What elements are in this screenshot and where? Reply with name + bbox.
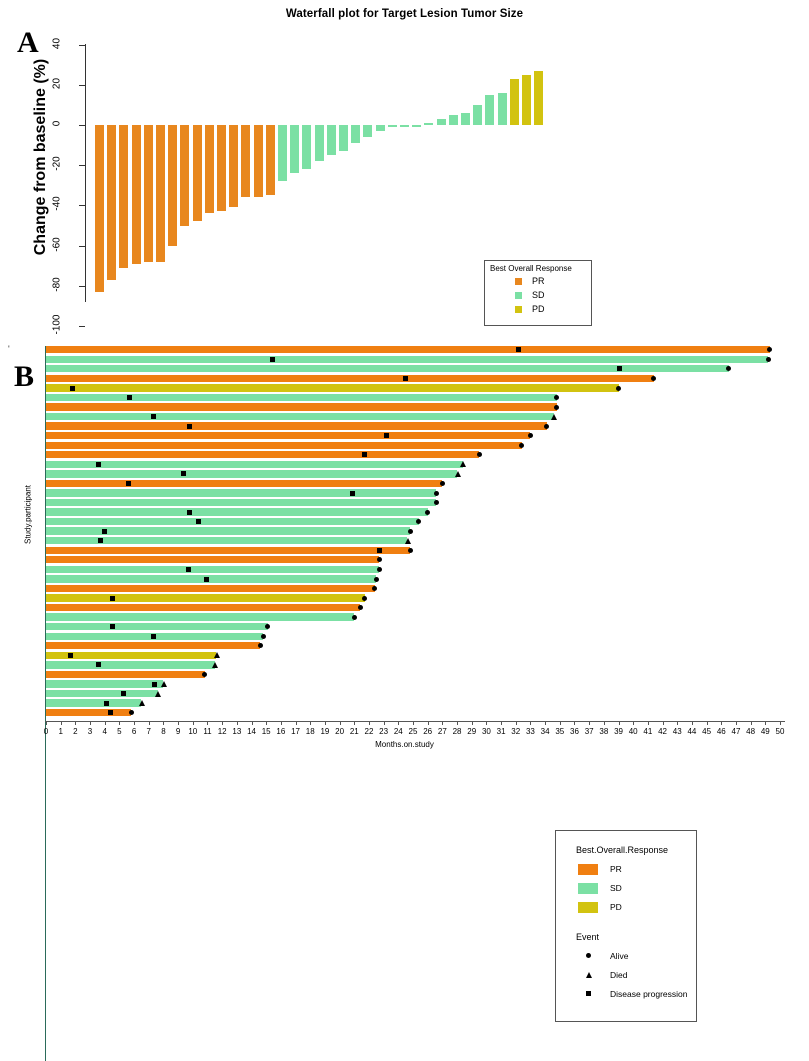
chart-b-lane-bar — [46, 422, 547, 429]
chart-b-lane-bar — [46, 547, 410, 554]
chart-b-lane-bar — [46, 671, 205, 678]
chart-a-bar — [485, 95, 494, 125]
chart-a-y-axis-line — [85, 44, 86, 302]
chart-b-event-marker-alive — [261, 634, 266, 639]
chart-b-event-marker-prog — [377, 548, 382, 553]
chart-a-bar — [363, 125, 372, 137]
chart-a-tick-label: 0 — [52, 107, 63, 141]
chart-b-tick — [354, 721, 355, 725]
chart-b-event-marker-prog — [187, 424, 192, 429]
chart-b-tick — [560, 721, 561, 725]
chart-a-tick — [79, 125, 85, 126]
chart-b-tick — [193, 721, 194, 725]
chart-a-legend-label: PR — [532, 276, 545, 286]
chart-b-event-marker-alive — [425, 510, 430, 515]
panel-a-waterfall-plot: Waterfall plot for Target Lesion Tumor S… — [0, 0, 809, 340]
chart-a-tick — [79, 246, 85, 247]
chart-a-bar — [473, 105, 482, 125]
chart-b-event-marker-alive — [129, 710, 134, 715]
chart-b-event-marker-prog — [270, 357, 275, 362]
chart-b-tick — [736, 721, 737, 725]
chart-b-lane-bar — [46, 365, 729, 372]
chart-b-event-marker-alive — [372, 586, 377, 591]
chart-b-event-marker-alive — [265, 624, 270, 629]
chart-b-tick — [325, 721, 326, 725]
chart-b-tick-label: 50 — [771, 727, 789, 736]
chart-a-bar — [498, 93, 507, 125]
chart-a-bar — [449, 115, 458, 125]
chart-b-legend-response-title: Best.Overall.Response — [576, 845, 668, 855]
chart-a-bar — [424, 123, 433, 125]
chart-b-event-marker-prog — [403, 376, 408, 381]
chart-b-event-marker-alive — [358, 605, 363, 610]
chart-b-event-marker-prog — [187, 510, 192, 515]
chart-b-legend-event-label: Alive — [610, 951, 628, 961]
chart-b-lane-bar — [46, 527, 410, 534]
chart-a-title: Waterfall plot for Target Lesion Tumor S… — [0, 8, 809, 20]
chart-b-event-marker-alive — [767, 347, 772, 352]
chart-a-plot-area — [90, 44, 790, 306]
chart-b-tick — [75, 721, 76, 725]
chart-b-event-marker-prog — [186, 567, 191, 572]
chart-a-bar — [339, 125, 348, 151]
chart-b-tick — [119, 721, 120, 725]
chart-b-tick — [207, 721, 208, 725]
chart-a-bar — [180, 125, 189, 226]
chart-b-event-marker-prog — [151, 414, 156, 419]
chart-b-event-marker-prog — [350, 491, 355, 496]
chart-b-tick — [619, 721, 620, 725]
panel-b-label: B — [14, 362, 34, 392]
chart-a-bar — [95, 125, 104, 292]
chart-b-legend-label: PD — [610, 902, 622, 912]
chart-b-tick — [751, 721, 752, 725]
chart-b-legend-swatch — [578, 883, 598, 894]
chart-b-event-marker-alive — [374, 577, 379, 582]
chart-b-lane-bar — [46, 604, 360, 611]
chart-a-legend: Best Overall Response PRSDPD — [484, 260, 592, 326]
chart-b-event-marker-alive — [440, 481, 445, 486]
chart-b-lane-bar — [46, 489, 436, 496]
chart-b-event-marker-died — [455, 471, 461, 477]
chart-b-tick — [486, 721, 487, 725]
chart-a-bar — [144, 125, 153, 262]
chart-b-event-marker-alive — [726, 366, 731, 371]
chart-a-bar — [510, 79, 519, 125]
chart-b-event-marker-prog — [110, 596, 115, 601]
chart-b-lane-bar — [46, 556, 379, 563]
chart-b-event-marker-died — [161, 681, 167, 687]
chart-a-tick — [79, 326, 85, 327]
chart-a-bar — [168, 125, 177, 246]
chart-b-tick — [222, 721, 223, 725]
chart-b-lane-bar — [46, 518, 419, 525]
chart-b-lane-bar — [46, 394, 557, 401]
chart-b-tick — [149, 721, 150, 725]
chart-a-bar — [278, 125, 287, 181]
panel-b-swimmer-plot: ' B Study.participant 012345678910111213… — [0, 340, 809, 759]
chart-a-bar — [229, 125, 238, 207]
chart-b-tick — [296, 721, 297, 725]
chart-b-event-marker-alive — [544, 424, 549, 429]
chart-b-tick — [589, 721, 590, 725]
chart-b-tick — [384, 721, 385, 725]
chart-b-event-marker-alive — [528, 433, 533, 438]
chart-a-tick-label: -100 — [52, 308, 63, 342]
chart-b-tick — [677, 721, 678, 725]
chart-b-event-marker-alive — [651, 376, 656, 381]
chart-b-event-marker-died — [551, 414, 557, 420]
chart-b-tick — [413, 721, 414, 725]
chart-b-lane-bar — [46, 442, 522, 449]
chart-a-tick-label: -20 — [52, 147, 63, 181]
chart-b-tick — [252, 721, 253, 725]
chart-b-event-marker-alive — [477, 452, 482, 457]
chart-a-bar — [302, 125, 311, 169]
chart-b-tick — [310, 721, 311, 725]
chart-b-lane-bar — [46, 413, 554, 420]
chart-b-lane-bar — [46, 709, 131, 716]
chart-a-bar — [327, 125, 336, 155]
chart-b-tick — [648, 721, 649, 725]
chart-b-event-marker-prog — [126, 481, 131, 486]
chart-b-event-marker-alive — [766, 357, 771, 362]
chart-b-tick — [442, 721, 443, 725]
chart-b-event-marker-alive — [408, 548, 413, 553]
chart-b-tick — [266, 721, 267, 725]
chart-b-x-axis-label: Months.on.study — [0, 740, 809, 749]
chart-b-lane-bar — [46, 594, 365, 601]
chart-b-event-marker-prog — [617, 366, 622, 371]
chart-a-tick — [79, 205, 85, 206]
chart-a-bar — [437, 119, 446, 125]
panel-b-corner-mark: ' — [8, 344, 10, 354]
chart-b-tick — [663, 721, 664, 725]
chart-a-bar — [376, 125, 385, 131]
chart-a-bar — [107, 125, 116, 280]
chart-a-tick-label: 40 — [52, 26, 63, 60]
chart-b-event-marker-prog — [196, 519, 201, 524]
chart-b-event-marker-prog — [516, 347, 521, 352]
chart-a-bar — [156, 125, 165, 262]
chart-b-event-marker-alive — [554, 395, 559, 400]
chart-b-tick — [237, 721, 238, 725]
chart-b-event-marker-prog — [110, 624, 115, 629]
chart-a-bar — [132, 125, 141, 264]
chart-b-event-marker-prog — [68, 653, 73, 658]
chart-b-tick — [61, 721, 62, 725]
chart-b-event-marker-prog — [384, 433, 389, 438]
chart-b-event-marker-prog — [102, 529, 107, 534]
chart-b-tick — [178, 721, 179, 725]
chart-b-tick — [604, 721, 605, 725]
chart-b-legend-label: PR — [610, 864, 622, 874]
chart-b-lane-bar — [46, 461, 463, 468]
chart-b-tick — [633, 721, 634, 725]
chart-b-tick — [457, 721, 458, 725]
chart-b-tick — [90, 721, 91, 725]
chart-b-lane-bar — [46, 661, 215, 668]
chart-b-tick — [46, 721, 47, 725]
chart-b-event-marker-alive — [408, 529, 413, 534]
chart-b-legend-swatch — [578, 864, 598, 875]
chart-b-event-marker-prog — [108, 710, 113, 715]
chart-b-lane-bar — [46, 642, 260, 649]
chart-b-legend-swatch — [578, 902, 598, 913]
chart-b-lane-bar — [46, 699, 141, 706]
chart-a-legend-label: PD — [532, 304, 545, 314]
chart-b-tick — [501, 721, 502, 725]
chart-b-tick — [340, 721, 341, 725]
chart-b-lane-bar — [46, 480, 442, 487]
chart-b-lane-bar — [46, 680, 163, 687]
chart-b-legend-event-label: Disease progression — [610, 989, 687, 999]
chart-b-event-marker-alive — [434, 491, 439, 496]
chart-b-lane-bar — [46, 384, 619, 391]
chart-b-tick — [765, 721, 766, 725]
chart-b-event-marker-alive — [377, 567, 382, 572]
chart-b-lane-bar — [46, 356, 768, 363]
chart-a-bar — [388, 125, 397, 127]
chart-b-tick — [398, 721, 399, 725]
chart-b-tick — [707, 721, 708, 725]
chart-b-y-axis-label: Study.participant — [24, 425, 33, 605]
chart-a-bar — [461, 113, 470, 125]
chart-a-tick — [79, 286, 85, 287]
chart-b-tick — [516, 721, 517, 725]
chart-b-lane-bar — [46, 346, 770, 353]
chart-b-event-marker-prog — [152, 682, 157, 687]
chart-a-tick-label: -60 — [52, 227, 63, 261]
chart-b-legend-marker-circle — [586, 953, 591, 958]
chart-b-event-marker-prog — [151, 634, 156, 639]
chart-b-lane-bar — [46, 470, 457, 477]
chart-b-event-marker-prog — [70, 386, 75, 391]
chart-a-bar — [522, 75, 531, 125]
chart-b-tick — [105, 721, 106, 725]
chart-b-event-marker-alive — [352, 615, 357, 620]
chart-b-event-marker-alive — [519, 443, 524, 448]
chart-b-event-marker-alive — [434, 500, 439, 505]
chart-b-event-marker-alive — [258, 643, 263, 648]
chart-b-lane-bar — [46, 375, 654, 382]
chart-b-event-marker-died — [155, 691, 161, 697]
chart-a-tick — [79, 85, 85, 86]
chart-a-bar — [241, 125, 250, 197]
chart-b-event-marker-prog — [204, 577, 209, 582]
chart-b-tick — [472, 721, 473, 725]
chart-b-event-marker-alive — [202, 672, 207, 677]
chart-b-tick — [721, 721, 722, 725]
chart-a-tick-label: -40 — [52, 187, 63, 221]
chart-a-y-axis-label: Change from baseline (%) — [32, 42, 50, 272]
chart-a-tick-label: -80 — [52, 267, 63, 301]
chart-a-bar — [351, 125, 360, 143]
chart-a-bar — [290, 125, 299, 173]
chart-b-lane-bar — [46, 451, 479, 458]
chart-a-bar — [217, 125, 226, 211]
chart-b-lane-bar — [46, 499, 436, 506]
chart-b-tick — [369, 721, 370, 725]
chart-b-lane-bar — [46, 690, 158, 697]
chart-b-event-marker-died — [460, 461, 466, 467]
chart-b-event-marker-alive — [416, 519, 421, 524]
chart-a-bar — [412, 125, 421, 127]
chart-a-tick-label: 20 — [52, 66, 63, 100]
chart-a-legend-title: Best Overall Response — [490, 264, 572, 273]
chart-b-legend-label: SD — [610, 883, 622, 893]
chart-a-legend-label: SD — [532, 290, 545, 300]
chart-b-x-axis-line — [45, 721, 785, 722]
chart-b-legend-event-label: Died — [610, 970, 627, 980]
chart-b-event-marker-died — [139, 700, 145, 706]
chart-b-lane-bar — [46, 613, 354, 620]
chart-b-lane-bar — [46, 585, 375, 592]
chart-b-lane-bar — [46, 508, 428, 515]
chart-b-event-marker-alive — [377, 557, 382, 562]
chart-b-event-marker-alive — [616, 386, 621, 391]
chart-b-tick — [428, 721, 429, 725]
chart-b-legend-marker-square — [586, 991, 591, 996]
chart-a-bar — [400, 125, 409, 127]
chart-b-event-marker-prog — [362, 452, 367, 457]
chart-a-bar — [254, 125, 263, 197]
chart-a-legend-swatch — [515, 278, 522, 285]
chart-b-event-marker-prog — [96, 662, 101, 667]
chart-b-tick — [780, 721, 781, 725]
chart-b-lane-bar — [46, 623, 268, 630]
chart-a-bar — [315, 125, 324, 161]
chart-b-event-marker-prog — [96, 462, 101, 467]
chart-b-tick — [134, 721, 135, 725]
chart-b-event-marker-prog — [127, 395, 132, 400]
chart-a-bar — [193, 125, 202, 221]
chart-b-event-marker-prog — [98, 538, 103, 543]
chart-a-tick — [79, 165, 85, 166]
chart-b-tick — [281, 721, 282, 725]
chart-b-lane-bar — [46, 403, 557, 410]
chart-b-tick — [545, 721, 546, 725]
chart-b-lane-bar — [46, 566, 379, 573]
chart-b-event-marker-alive — [362, 596, 367, 601]
chart-b-event-marker-died — [214, 652, 220, 658]
chart-a-legend-swatch — [515, 292, 522, 299]
chart-b-legend-event-title: Event — [576, 932, 599, 942]
chart-b-tick — [574, 721, 575, 725]
chart-b-lane-bar — [46, 575, 376, 582]
chart-b-lanes — [46, 346, 786, 720]
chart-a-bar — [119, 125, 128, 268]
chart-b-tick — [163, 721, 164, 725]
chart-a-bar — [205, 125, 214, 213]
chart-b-legend: Best.Overall.Response PRSDPD Event Alive… — [555, 830, 697, 1022]
chart-a-legend-swatch — [515, 306, 522, 313]
chart-b-event-marker-prog — [104, 701, 109, 706]
chart-b-event-marker-died — [212, 662, 218, 668]
chart-b-event-marker-died — [405, 538, 411, 544]
chart-b-event-marker-alive — [554, 405, 559, 410]
chart-b-event-marker-prog — [181, 471, 186, 476]
chart-b-tick — [692, 721, 693, 725]
chart-b-event-marker-prog — [121, 691, 126, 696]
chart-b-tick — [530, 721, 531, 725]
chart-b-legend-marker-triangle — [586, 972, 592, 978]
chart-a-tick — [79, 45, 85, 46]
chart-b-lane-bar — [46, 432, 530, 439]
chart-a-bar — [534, 71, 543, 125]
chart-a-bar — [266, 125, 275, 195]
